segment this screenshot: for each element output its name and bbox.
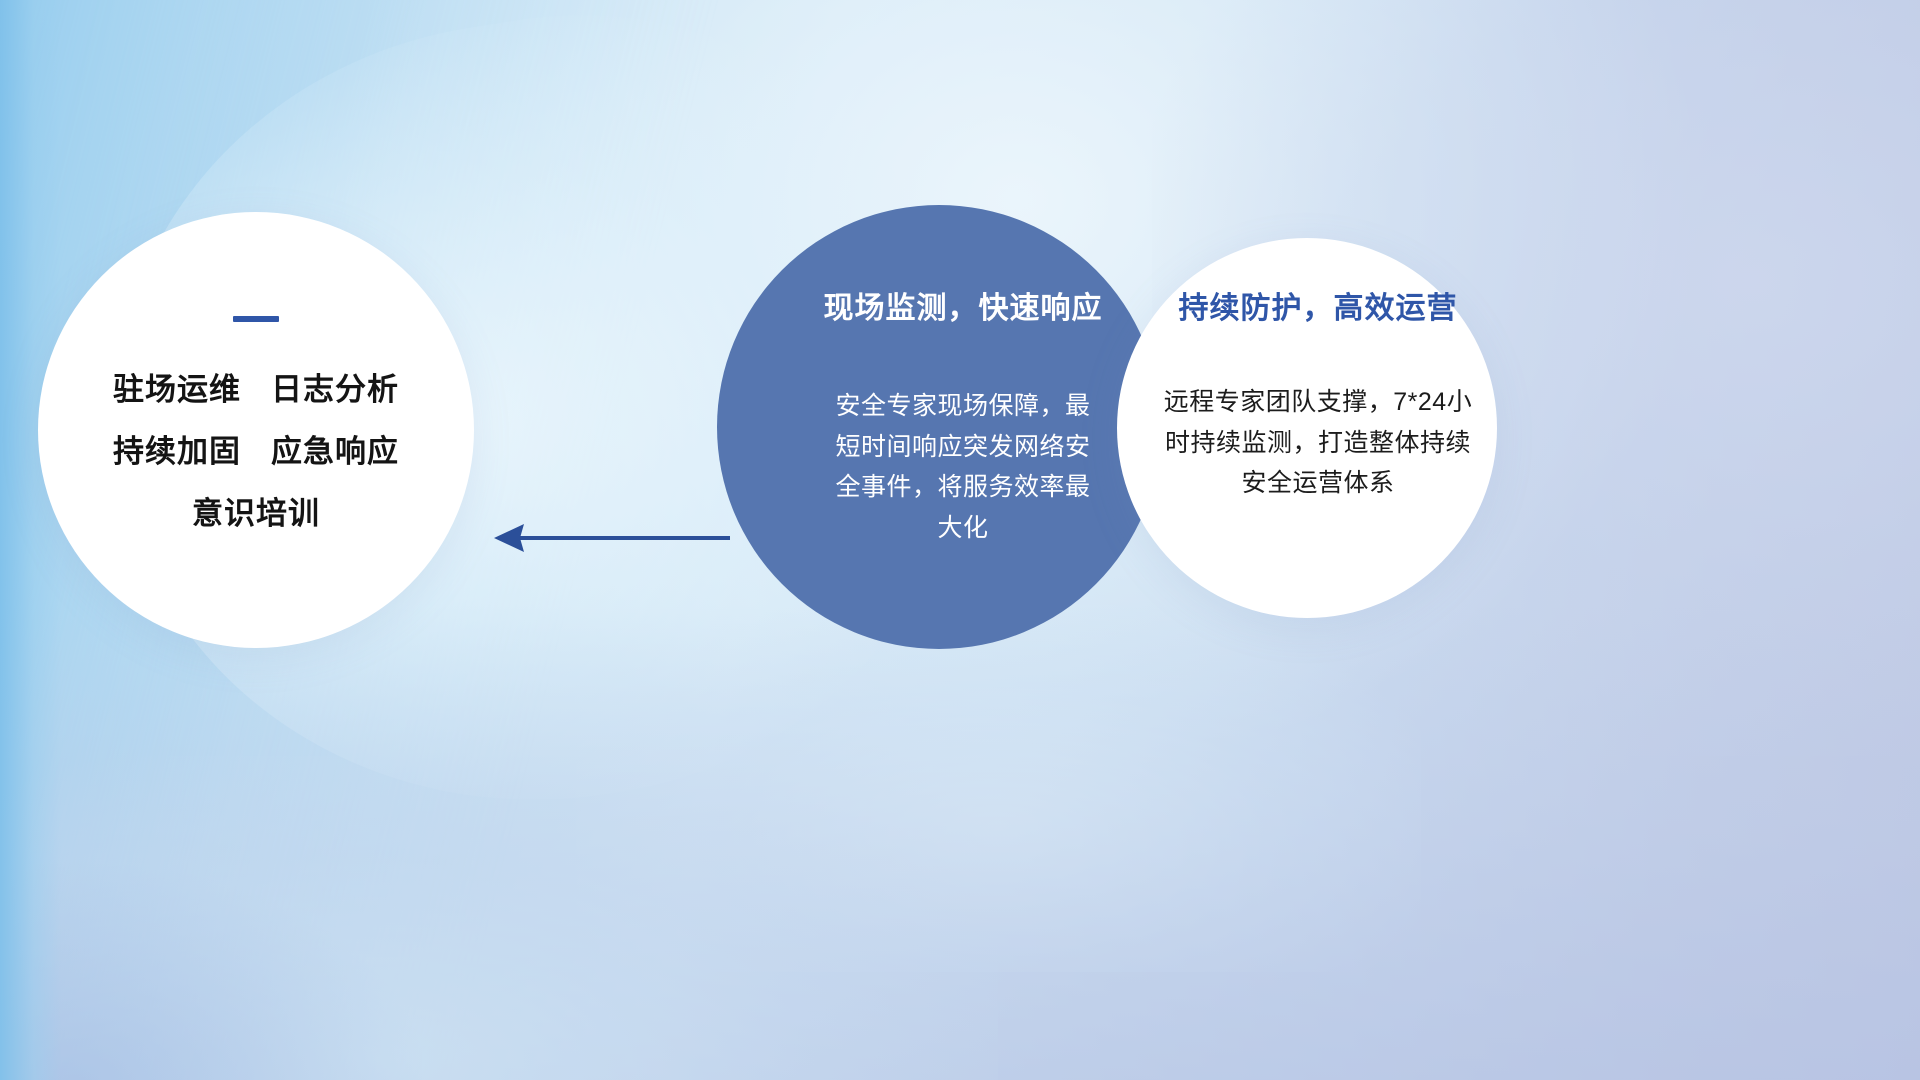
center-circle-body: 安全专家现场保障，最短时间响应突发网络安全事件，将服务效率最大化 (828, 386, 1098, 548)
capability-row-1: 驻场运维 日志分析 (113, 374, 399, 405)
capability-tag: 持续加固 (113, 436, 241, 467)
capability-row-3: 意识培训 (192, 498, 320, 529)
capability-tag: 驻场运维 (113, 374, 241, 405)
capability-tag: 日志分析 (271, 374, 399, 405)
right-circle-title: 持续防护，高效运营 (1179, 294, 1458, 324)
capability-tag: 应急响应 (271, 436, 399, 467)
slide-canvas: 驻场运维 日志分析 持续加固 应急响应 意识培训 现场监测，快速响应 安全专家现… (0, 0, 1920, 1080)
connector-arrow-left (480, 516, 730, 560)
center-circle-title: 现场监测，快速响应 (824, 294, 1103, 324)
right-circle-content: 持续防护，高效运营 远程专家团队支撑，7*24小时持续监测，打造整体持续安全运营… (1117, 238, 1497, 618)
background-corner-bottom-left (0, 864, 422, 1080)
center-circle-content: 现场监测，快速响应 安全专家现场保障，最短时间响应突发网络安全事件，将服务效率最… (717, 205, 1161, 649)
right-circle-body: 远程专家团队支撑，7*24小时持续监测，打造整体持续安全运营体系 (1153, 382, 1483, 504)
left-circle-content: 驻场运维 日志分析 持续加固 应急响应 意识培训 (38, 212, 474, 648)
arrow-left-icon (494, 524, 730, 552)
capability-tag: 意识培训 (192, 498, 320, 529)
capability-row-2: 持续加固 应急响应 (113, 436, 399, 467)
horizontal-dash-icon (233, 316, 279, 322)
